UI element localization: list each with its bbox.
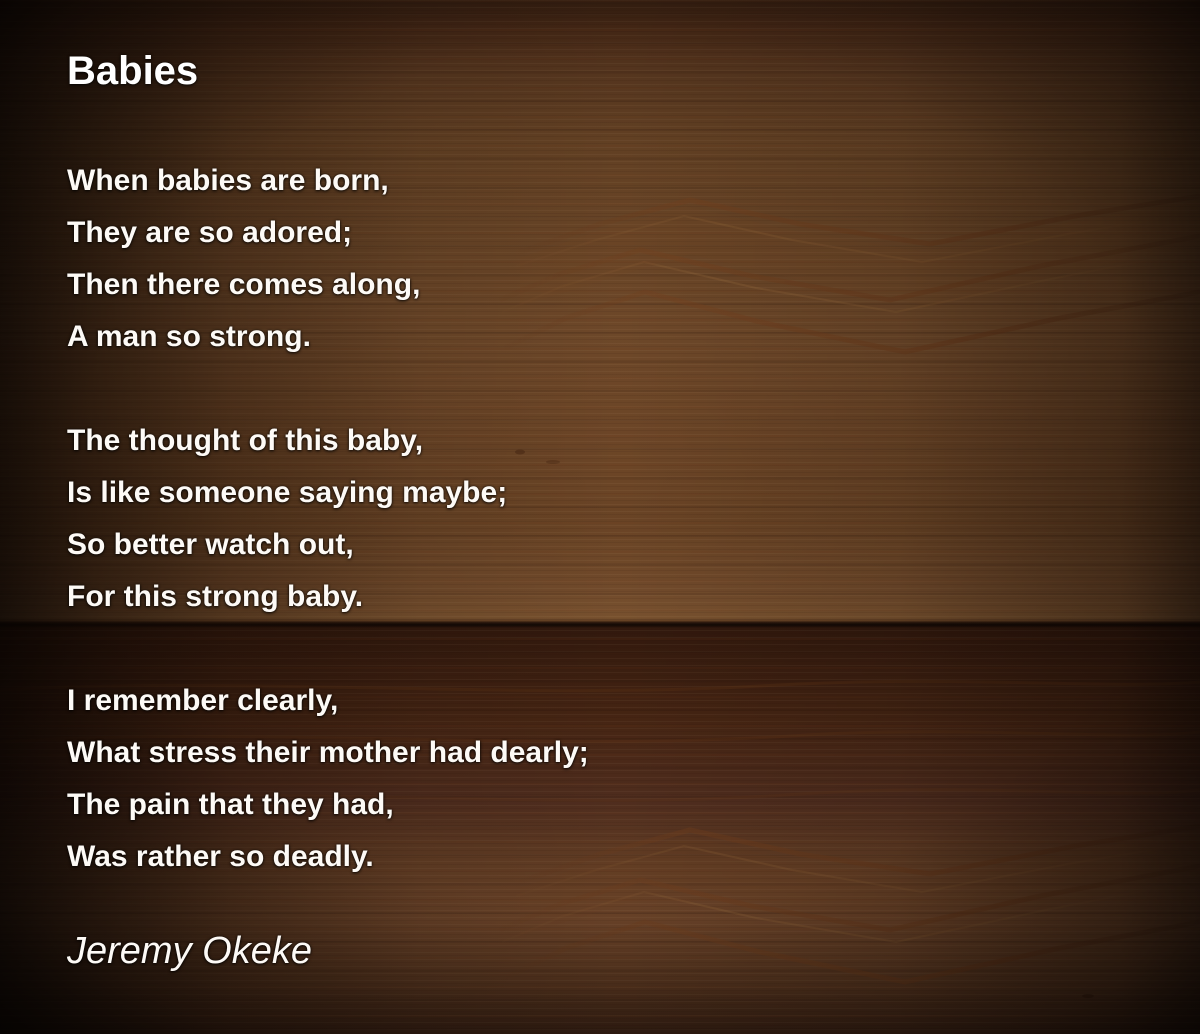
poem-body: When babies are born, They are so adored… [67,155,1067,883]
poem-line: A man so strong. [67,311,1067,363]
poem-line: So better watch out, [67,519,1067,571]
poem-line: They are so adored; [67,207,1067,259]
poem-line: For this strong baby. [67,571,1067,623]
poem-line: Was rather so deadly. [67,831,1067,883]
poem-line: I remember clearly, [67,675,1067,727]
poem-line: When babies are born, [67,155,1067,207]
poem-stanza: I remember clearly, What stress their mo… [67,675,1067,883]
poem-author-signature: Jeremy Okeke [67,930,312,973]
poem-image-card: Babies When babies are born, They are so… [0,0,1200,1034]
poem-line: The pain that they had, [67,779,1067,831]
poem-line: The thought of this baby, [67,415,1067,467]
poem-line: Is like someone saying maybe; [67,467,1067,519]
poem-stanza: The thought of this baby, Is like someon… [67,415,1067,623]
poem-content: Babies When babies are born, They are so… [0,0,1200,1034]
poem-stanza: When babies are born, They are so adored… [67,155,1067,363]
poem-title: Babies [67,49,198,94]
poem-line: Then there comes along, [67,259,1067,311]
poem-line: What stress their mother had dearly; [67,727,1067,779]
